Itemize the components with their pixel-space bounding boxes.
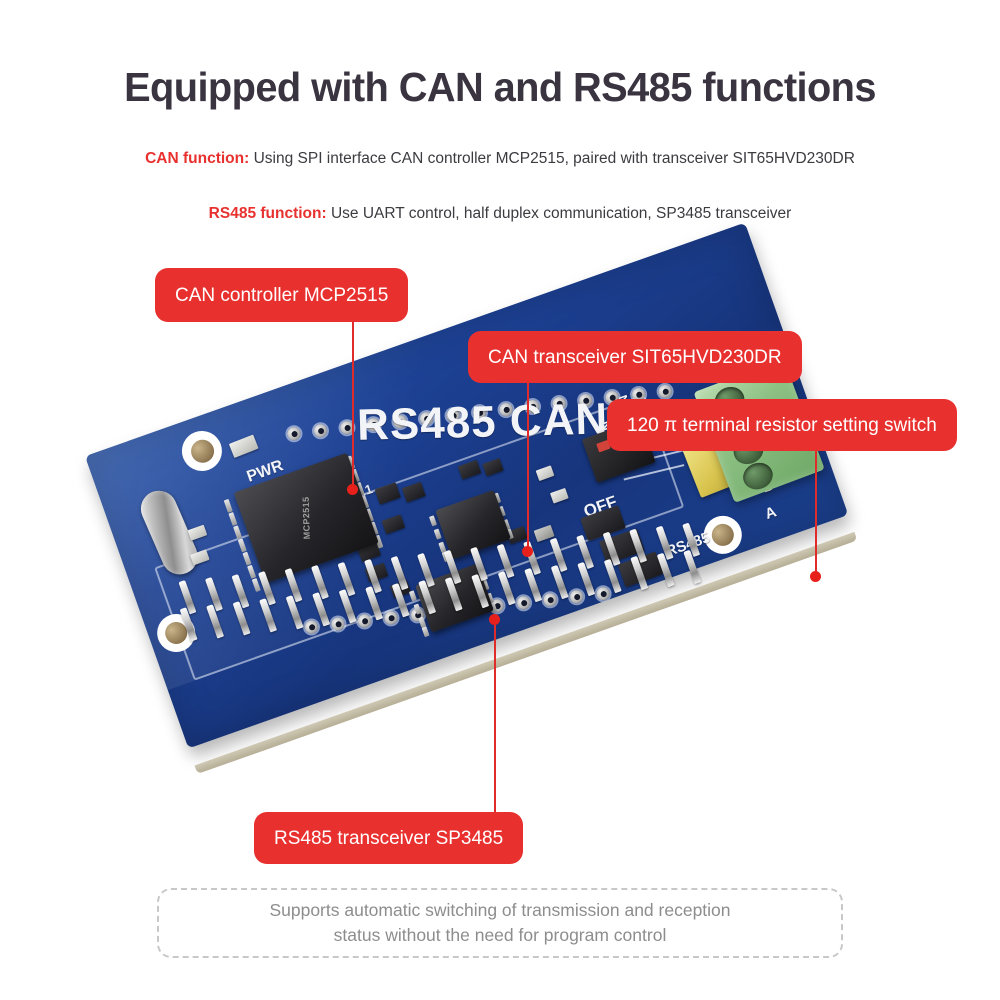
feature-text-can: Using SPI interface CAN controller MCP25… bbox=[254, 150, 855, 167]
leader-dot-can-controller bbox=[347, 484, 358, 495]
leader-dot-rs485-transceiver bbox=[489, 614, 500, 625]
chip-marking-mcp2515: MCP2515 bbox=[301, 496, 312, 539]
feature-line-can: CAN function: Using SPI interface CAN co… bbox=[0, 150, 1000, 168]
page-title: Equipped with CAN and RS485 functions bbox=[15, 64, 985, 111]
product-infographic: Equipped with CAN and RS485 functions CA… bbox=[0, 0, 1000, 1000]
mounting-hole bbox=[176, 425, 227, 476]
leader-line-can-controller bbox=[352, 320, 354, 490]
feature-text-rs485: Use UART control, half duplex communicat… bbox=[331, 205, 791, 222]
leader-dot-can-transceiver bbox=[522, 546, 533, 557]
feature-line-rs485: RS485 function: Use UART control, half d… bbox=[0, 205, 1000, 223]
callout-can-transceiver[interactable]: CAN transceiver SIT65HVD230DR bbox=[468, 331, 802, 383]
smd-component bbox=[188, 525, 208, 541]
footer-note-line-1: Supports automatic switching of transmis… bbox=[269, 898, 730, 923]
product-photo: PWR RS485 CAN HAT Rev2.1 bbox=[0, 300, 1000, 900]
footer-note-line-2: status without the need for program cont… bbox=[334, 923, 667, 948]
silk-terminal-label-a: A bbox=[763, 503, 779, 523]
feature-label-rs485: RS485 function: bbox=[209, 205, 327, 222]
power-led bbox=[229, 434, 259, 457]
callout-terminal-resistor[interactable]: 120 π terminal resistor setting switch bbox=[607, 399, 957, 451]
leader-line-rs485-transceiver bbox=[494, 619, 496, 814]
callout-rs485-transceiver[interactable]: RS485 transceiver SP3485 bbox=[254, 812, 523, 864]
callout-can-controller[interactable]: CAN controller MCP2515 bbox=[155, 268, 408, 322]
leader-dot-terminal-resistor bbox=[810, 571, 821, 582]
feature-label-can: CAN function: bbox=[145, 150, 249, 167]
leader-line-terminal-resistor bbox=[815, 449, 817, 577]
leader-line-can-transceiver bbox=[527, 381, 529, 551]
